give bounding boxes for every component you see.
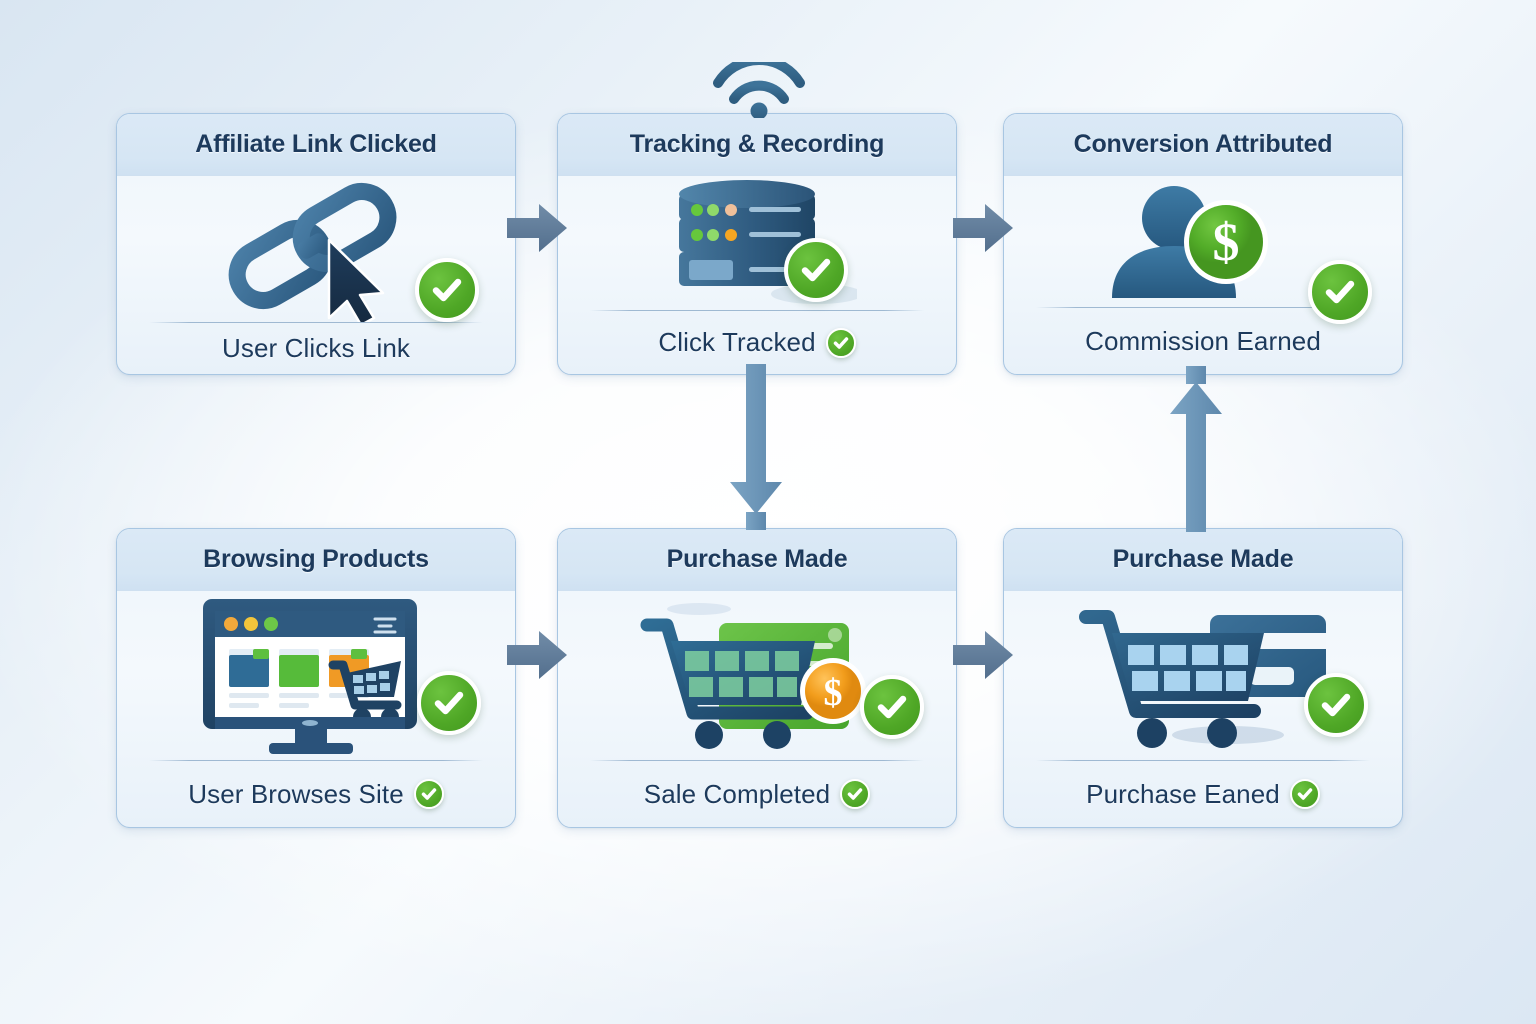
cart-receipt-coin-icon: $: [637, 595, 877, 755]
checkmark-icon: [420, 785, 438, 803]
card-label: User Clicks Link: [222, 333, 410, 364]
card-title: Affiliate Link Clicked: [195, 130, 437, 159]
arrow-down-2-to-5: [726, 364, 786, 530]
status-check-badge: [860, 675, 924, 739]
card-body: $ Sale Completed: [558, 591, 956, 827]
checkmark-icon: [429, 272, 465, 308]
card-header: Purchase Made: [558, 529, 956, 591]
link-cursor-icon: [211, 182, 421, 322]
card-header: Tracking & Recording: [558, 114, 956, 176]
arrow-bottom-4-to-5: [505, 627, 569, 683]
cart-credit-card-icon: [1078, 595, 1328, 755]
checkmark-icon: [431, 685, 467, 721]
checkmark-icon: [1318, 687, 1354, 723]
wifi-signal-icon: [709, 62, 809, 118]
card-affiliate-link-clicked[interactable]: Affiliate Link Clicked: [116, 113, 516, 375]
status-check-badge: [784, 238, 848, 302]
card-footer: User Clicks Link: [117, 323, 515, 374]
user-dollar-icon: $: [1098, 180, 1308, 306]
arrow-top-2-to-3: [951, 200, 1015, 256]
arrow-top-1-to-2: [505, 200, 569, 256]
svg-text:$: $: [824, 672, 843, 714]
card-label: Click Tracked: [658, 327, 815, 358]
card-purchase-made-sale[interactable]: Purchase Made: [557, 528, 957, 828]
card-body: User Clicks Link: [117, 176, 515, 374]
card-header: Browsing Products: [117, 529, 515, 591]
card-label: Commission Earned: [1085, 326, 1321, 357]
status-check-badge: [1308, 260, 1372, 324]
card-header: Conversion Attributed: [1004, 114, 1402, 176]
icon-area: [558, 176, 956, 310]
card-label: User Browses Site: [188, 779, 404, 810]
checkmark-icon: [874, 689, 910, 725]
card-tracking-and-recording[interactable]: Tracking & Recording: [557, 113, 957, 375]
label-check-badge: [1290, 779, 1320, 809]
card-footer: Purchase Eaned: [1004, 761, 1402, 827]
card-browsing-products[interactable]: Browsing Products: [116, 528, 516, 828]
arrow-up-6-to-3: [1166, 366, 1226, 532]
arrow-bottom-5-to-6: [951, 627, 1015, 683]
card-body: User Browses Site: [117, 591, 515, 827]
card-title: Purchase Made: [1113, 545, 1294, 574]
diagram-canvas: Affiliate Link Clicked: [0, 0, 1536, 1024]
card-title: Browsing Products: [203, 545, 429, 574]
card-label: Purchase Eaned: [1086, 779, 1280, 810]
checkmark-icon: [832, 334, 850, 352]
card-header: Purchase Made: [1004, 529, 1402, 591]
status-check-badge: [1304, 673, 1368, 737]
checkmark-icon: [798, 252, 834, 288]
label-check-badge: [414, 779, 444, 809]
card-header: Affiliate Link Clicked: [117, 114, 515, 176]
card-label: Sale Completed: [644, 779, 830, 810]
card-title: Tracking & Recording: [630, 130, 884, 159]
svg-text:$: $: [1213, 212, 1240, 272]
status-check-badge: [415, 258, 479, 322]
card-title: Conversion Attributed: [1074, 130, 1333, 159]
card-body: Click Tracked: [558, 176, 956, 374]
label-check-badge: [826, 328, 856, 358]
card-footer: Sale Completed: [558, 761, 956, 827]
card-body: Purchase Eaned: [1004, 591, 1402, 827]
label-check-badge: [840, 779, 870, 809]
card-footer: User Browses Site: [117, 761, 515, 827]
status-check-badge: [417, 671, 481, 735]
card-body: $ Commission Earned: [1004, 176, 1402, 374]
checkmark-icon: [846, 785, 864, 803]
checkmark-icon: [1322, 274, 1358, 310]
monitor-shopping-cart-icon: [191, 593, 441, 757]
card-purchase-made-payment[interactable]: Purchase Made: [1003, 528, 1403, 828]
card-title: Purchase Made: [667, 545, 848, 574]
checkmark-icon: [1296, 785, 1314, 803]
card-conversion-attributed[interactable]: Conversion Attributed: [1003, 113, 1403, 375]
